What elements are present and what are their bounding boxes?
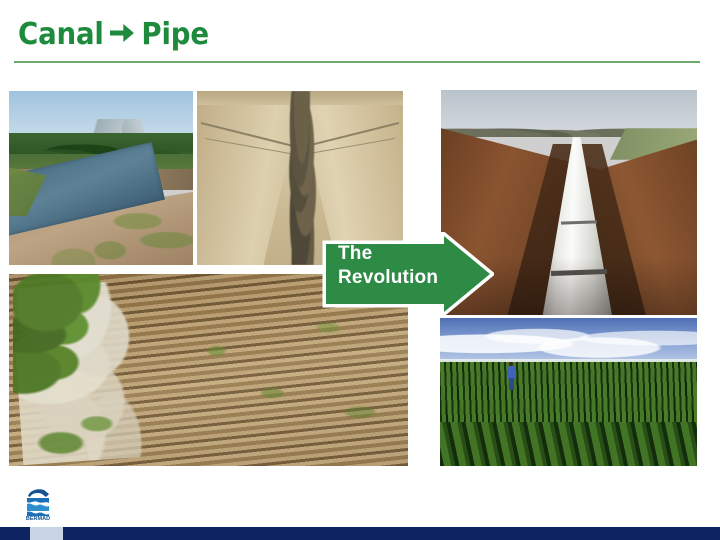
page-title: CanalPipe [18,10,698,58]
title-underline-rule [14,61,700,63]
pipe-joint-band-upper [561,220,597,225]
field-worker-figure [507,362,516,390]
photo-earthen-canal [9,91,193,265]
weed-debris-strip [281,91,322,265]
title-word-pipe: Pipe [141,17,208,52]
photo-drip-irrigated-crops [440,318,697,466]
right-arrow-icon [109,21,135,45]
bermad-logo: BERMAD [18,487,58,521]
slide-canvas: CanalPipe [0,0,720,540]
title-word-canal: Canal [18,17,104,52]
revolution-arrow-callout: The Revolution [322,232,494,316]
bermad-wordmark: BERMAD [26,516,50,521]
arrow-shape-icon [322,232,494,316]
worker-legs [509,378,514,390]
footer-accent-segment [30,527,63,540]
crop-rows-distant [440,362,697,421]
title-text-row: CanalPipe [18,17,209,52]
cloud-layer [440,321,697,359]
photo-drip-irrigated-crops-content [440,318,697,466]
photo-earthen-canal-content [9,91,193,265]
footer-bar [0,527,720,540]
